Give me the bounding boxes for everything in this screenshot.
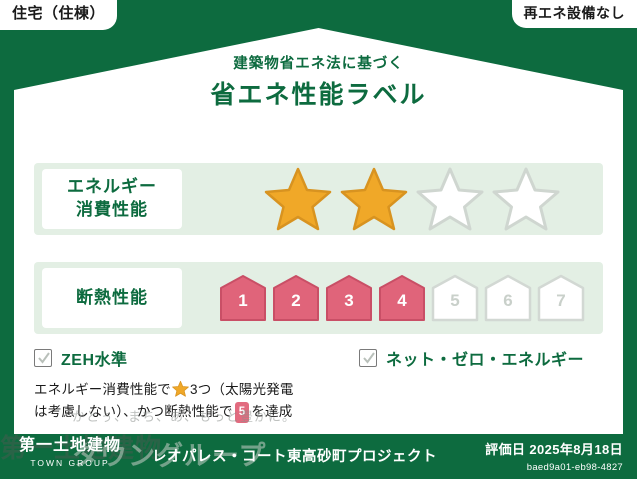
insulation-grade-7-text: 7 (537, 291, 585, 311)
insulation-performance-label: 断熱性能 (42, 268, 182, 328)
notes-body: エネルギー消費性能で3つ（太陽光発電 は考慮しない）、かつ断熱性能で5を達成 (34, 379, 603, 424)
zeh-label: ZEH水準 (61, 346, 128, 370)
energy-label-line2: 消費性能 (76, 200, 148, 219)
star-icon-filled-1 (264, 165, 332, 231)
energy-star-rating (264, 165, 560, 231)
company-logo-name: 第一土地建物 (10, 436, 130, 455)
insulation-grade-5: 5 (431, 274, 479, 322)
energy-performance-label: エネルギー 消費性能 (42, 169, 182, 229)
house-panel: 建築物省エネ法に基づく 省エネ性能ラベル エネルギー 消費性能 (14, 28, 623, 434)
insulation-grade-4: 4 (378, 274, 426, 322)
insulation-grade-6-text: 6 (484, 291, 532, 311)
nze-checkbox-row[interactable]: ネット・ゼロ・エネルギー (359, 346, 584, 370)
notes-line1-suffix: 3つ（太陽光発電 (190, 382, 294, 397)
insulation-grade-3-text: 3 (325, 291, 373, 311)
document-id: baed9a01-eb98-4827 (485, 462, 623, 473)
star-icon-inline (172, 380, 189, 397)
star-icon-filled-2 (340, 165, 408, 231)
notes-grade-badge: 5 (235, 402, 250, 423)
title-subtitle: 建築物省エネ法に基づく (14, 56, 623, 73)
insulation-grade-7: 7 (537, 274, 585, 322)
evaluation-info: 評価日 2025年8月18日 baed9a01-eb98-4827 (485, 439, 623, 473)
insulation-grade-2: 2 (272, 274, 320, 322)
insulation-grade-3: 3 (325, 274, 373, 322)
footer-bar: 第一土地建物 TOWN GROUP レオパレス・コート東高砂町プロジェクト 評価… (0, 434, 637, 479)
zeh-checkbox-icon[interactable] (34, 349, 52, 367)
energy-label-card: 建築物省エネ法に基づく 省エネ性能ラベル エネルギー 消費性能 (0, 0, 637, 479)
energy-performance-row: エネルギー 消費性能 (34, 163, 603, 235)
nze-checkbox-icon[interactable] (359, 349, 377, 367)
nze-label: ネット・ゼロ・エネルギー (386, 346, 584, 370)
insulation-grade-5-text: 5 (431, 291, 479, 311)
energy-label-line1: エネルギー (67, 177, 157, 196)
insulation-performance-row: 断熱性能 1 2 3 (34, 262, 603, 334)
company-logo-tagline: TOWN GROUP (10, 458, 130, 468)
notes-line2-prefix: は考慮しない）、かつ断熱性能で (34, 404, 233, 419)
insulation-grade-1-text: 1 (219, 291, 267, 311)
evaluation-date: 評価日 2025年8月18日 (485, 439, 623, 458)
insulation-grade-4-text: 4 (378, 291, 426, 311)
insulation-grade-6: 6 (484, 274, 532, 322)
notes-section: ZEH水準 ネット・ゼロ・エネルギー エネルギー消費性能で3つ（太陽光発電 は考… (34, 346, 603, 424)
label-title: 建築物省エネ法に基づく 省エネ性能ラベル (14, 56, 623, 110)
star-icon-empty-4 (492, 165, 560, 231)
notes-line2-suffix: を達成 (251, 404, 292, 419)
title-main: 省エネ性能ラベル (14, 80, 623, 110)
project-name: レオパレス・コート東高砂町プロジェクト (152, 445, 437, 466)
insulation-grade-scale: 1 2 3 4 5 (219, 274, 585, 322)
star-icon-empty-3 (416, 165, 484, 231)
insulation-label-text: 断熱性能 (76, 287, 148, 310)
insulation-grade-1: 1 (219, 274, 267, 322)
building-type-chip: 住宅（住棟） (0, 0, 117, 30)
renewable-equipment-chip: 再エネ設備なし (512, 0, 637, 28)
company-logo: 第一土地建物 TOWN GROUP (10, 436, 130, 468)
notes-line1-prefix: エネルギー消費性能で (34, 382, 171, 397)
insulation-grade-2-text: 2 (272, 291, 320, 311)
